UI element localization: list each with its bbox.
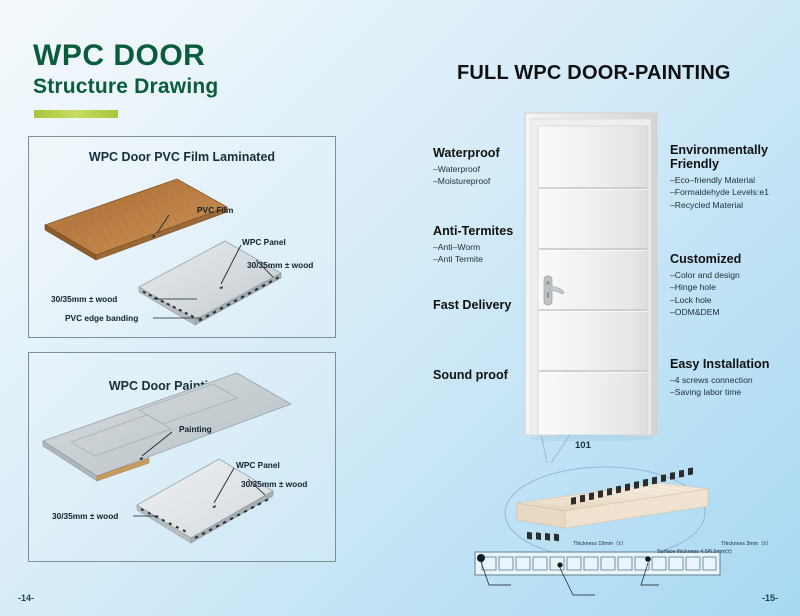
- page-title: WPC DOOR: [33, 40, 218, 72]
- feature-item: –Eco–friendly Material: [670, 174, 775, 186]
- panel-painting-tech: WPC Door Painting Tech: [28, 352, 336, 562]
- feature-waterproof: Waterproof –Waterproof –Moistureproof: [433, 146, 500, 188]
- brochure-page: WPC DOOR Structure Drawing WPC Door PVC …: [0, 0, 800, 616]
- feature-item: –Anti–Worm: [433, 241, 513, 253]
- label-wpc-panel-a: WPC Panel: [242, 237, 286, 247]
- left-title-block: WPC DOOR Structure Drawing: [33, 40, 218, 99]
- painting-tech-illustration: [29, 353, 335, 561]
- callout-leader: [539, 435, 573, 463]
- feature-item: –Waterproof: [433, 163, 500, 175]
- feature-environmentally-friendly: Environmentally Friendly –Eco–friendly M…: [670, 143, 775, 211]
- feature-sound-proof-heading: Sound proof: [433, 368, 508, 382]
- feature-item: –Saving labor time: [670, 386, 769, 398]
- accent-bar: [34, 110, 118, 118]
- wpc-panel-shape: [139, 241, 281, 325]
- right-column: FULL WPC DOOR-PAINTING: [395, 0, 800, 616]
- feature-item: –Formaldehyde Levels:e1: [670, 186, 775, 198]
- feature-fast-delivery: Fast Delivery: [433, 298, 511, 312]
- right-page-title: FULL WPC DOOR-PAINTING: [457, 62, 731, 85]
- label-wood-thickness-b2: 30/35mm ± wood: [52, 511, 118, 521]
- page-number-left: -14-: [18, 593, 34, 603]
- feature-environmentally-friendly-heading: Environmentally Friendly: [670, 143, 775, 171]
- feature-easy-installation: Easy Installation –4 screws connection –…: [670, 357, 769, 399]
- label-painting: Painting: [179, 424, 212, 434]
- feature-item: –Moistureproof: [433, 175, 500, 187]
- feature-sound-proof: Sound proof: [433, 368, 508, 382]
- panel-detail-illustration: [455, 435, 795, 605]
- label-wood-thickness-a1: 30/35mm ± wood: [247, 260, 313, 270]
- dimension-thickness-19mm: Thickness 19mm（±）: [573, 539, 627, 547]
- label-wood-thickness-b1: 30/35mm ± wood: [241, 479, 307, 489]
- dim-dot-thickness-3mm: [645, 556, 651, 562]
- door-leaf: [538, 126, 648, 435]
- feature-item: –ODM&DEM: [670, 306, 741, 318]
- dimension-surface-thickness: Surface thickness 4.5/6.5mm(±): [657, 549, 732, 555]
- door-illustration: [515, 105, 675, 455]
- feature-anti-termites: Anti-Termites –Anti–Worm –Anti Termite: [433, 224, 513, 266]
- feature-easy-installation-heading: Easy Installation: [670, 357, 769, 371]
- label-pvc-edge-banding: PVC edge banding: [65, 313, 138, 323]
- feature-item: –Hinge hole: [670, 281, 741, 293]
- feature-item: –Lock hole: [670, 294, 741, 306]
- page-subtitle: Structure Drawing: [33, 75, 218, 99]
- dimension-thickness-3mm: Thickness 3mm（±）: [721, 539, 772, 547]
- panel-pvc-film-laminated: WPC Door PVC Film Laminated: [28, 136, 336, 338]
- left-column: WPC DOOR Structure Drawing WPC Door PVC …: [0, 0, 395, 616]
- feature-item: –Color and design: [670, 269, 741, 281]
- dim-dot-thickness-19mm: [477, 554, 485, 562]
- cross-section-strip: [475, 552, 720, 595]
- feature-item: –4 screws connection: [670, 374, 769, 386]
- label-pvc-film: PVC Film: [197, 205, 233, 215]
- feature-customized-heading: Customized: [670, 252, 741, 266]
- label-wood-thickness-a2: 30/35mm ± wood: [51, 294, 117, 304]
- feature-fast-delivery-heading: Fast Delivery: [433, 298, 511, 312]
- feature-anti-termites-heading: Anti-Termites: [433, 224, 513, 238]
- label-wpc-panel-b: WPC Panel: [236, 460, 280, 470]
- page-number-right: -15-: [762, 593, 778, 603]
- hollow-board-3d: [517, 468, 708, 542]
- feature-customized: Customized –Color and design –Hinge hole…: [670, 252, 741, 318]
- feature-item: –Anti Termite: [433, 253, 513, 265]
- feature-item: –Recycled Material: [670, 199, 775, 211]
- wpc-panel-shape-b: [137, 459, 273, 543]
- pvc-film-board-shape: [45, 179, 227, 260]
- pvc-laminated-illustration: [29, 137, 335, 337]
- dim-dot-surface-thickness: [557, 562, 562, 567]
- feature-waterproof-heading: Waterproof: [433, 146, 500, 160]
